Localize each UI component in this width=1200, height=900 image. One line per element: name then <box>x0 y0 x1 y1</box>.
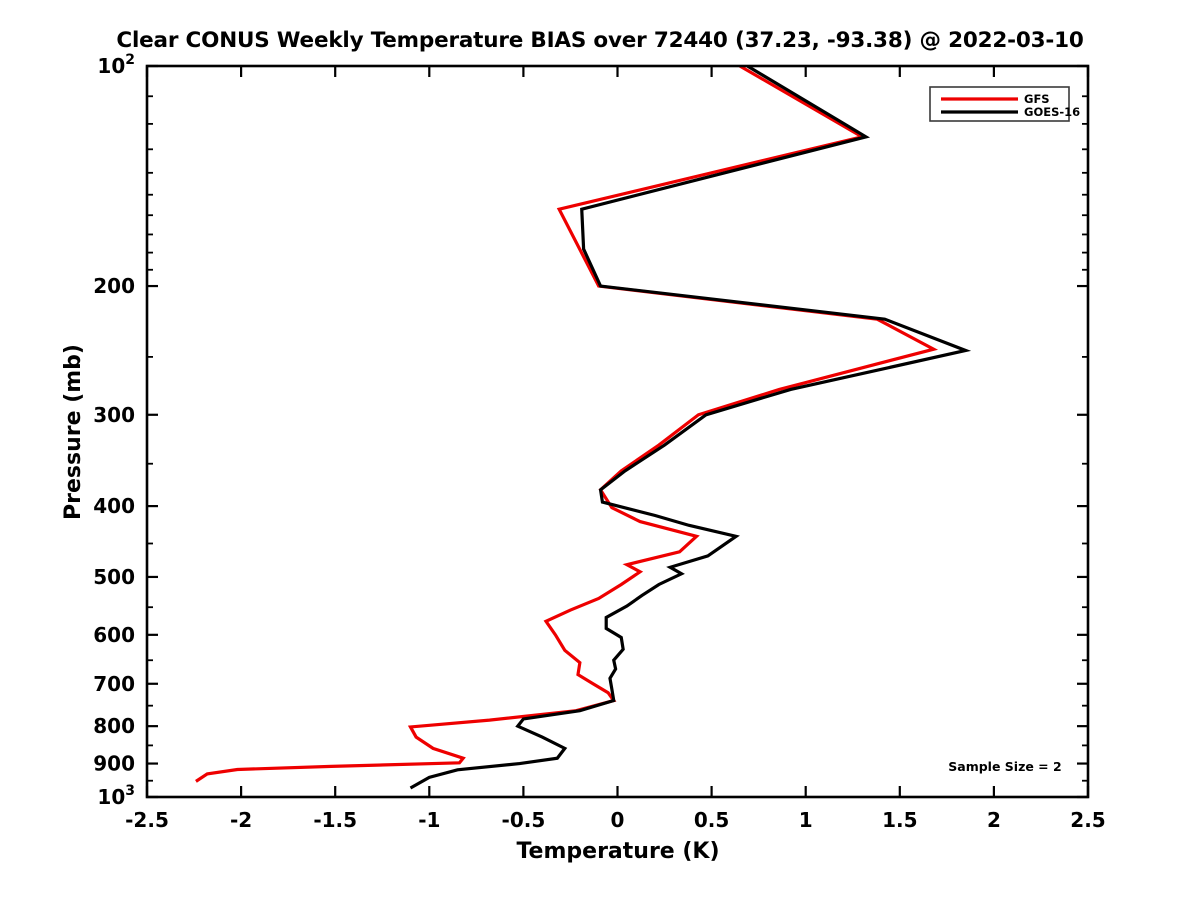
legend-label-gfs: GFS <box>1024 92 1050 106</box>
x-tick-label: -2.5 <box>125 808 169 832</box>
y-tick-label: 800 <box>93 714 135 738</box>
series-line-goes-16 <box>410 66 965 788</box>
chart-figure: Clear CONUS Weekly Temperature BIAS over… <box>0 0 1200 900</box>
axis-tick-labels-layer: -2.5-2-1.5-1-0.500.511.522.5102200300400… <box>93 52 1105 832</box>
plot-canvas: -2.5-2-1.5-1-0.500.511.522.5102200300400… <box>0 0 1200 900</box>
legend-label-goes16: GOES-16 <box>1024 105 1080 119</box>
x-tick-label: 1 <box>799 808 813 832</box>
sample-size-annotation: Sample Size = 2 <box>948 759 1061 774</box>
y-tick-label: 102 <box>97 52 135 78</box>
x-tick-label: 0.5 <box>694 808 729 832</box>
y-tick-label: 700 <box>93 672 135 696</box>
plot-frame <box>147 66 1088 797</box>
y-axis-label: Pressure (mb) <box>61 344 86 520</box>
x-tick-label: -2 <box>230 808 252 832</box>
x-tick-label: 2.5 <box>1070 808 1105 832</box>
data-series-layer <box>196 66 966 788</box>
y-tick-label: 200 <box>93 274 135 298</box>
x-tick-label: -1.5 <box>313 808 357 832</box>
y-tick-label: 600 <box>93 623 135 647</box>
axis-ticks-layer <box>147 66 1088 797</box>
series-line-gfs <box>196 66 934 781</box>
x-tick-label: -1 <box>418 808 440 832</box>
y-tick-label: 900 <box>93 752 135 776</box>
x-tick-label: 1.5 <box>882 808 917 832</box>
x-tick-label: 0 <box>611 808 625 832</box>
x-tick-label: -0.5 <box>502 808 546 832</box>
y-tick-label: 400 <box>93 494 135 518</box>
y-tick-label: 103 <box>97 783 135 809</box>
y-tick-label: 300 <box>93 403 135 427</box>
y-tick-label: 500 <box>93 565 135 589</box>
chart-legend[interactable]: GFS GOES-16 <box>930 87 1080 121</box>
x-axis-label: Temperature (K) <box>516 839 719 864</box>
x-tick-label: 2 <box>987 808 1001 832</box>
